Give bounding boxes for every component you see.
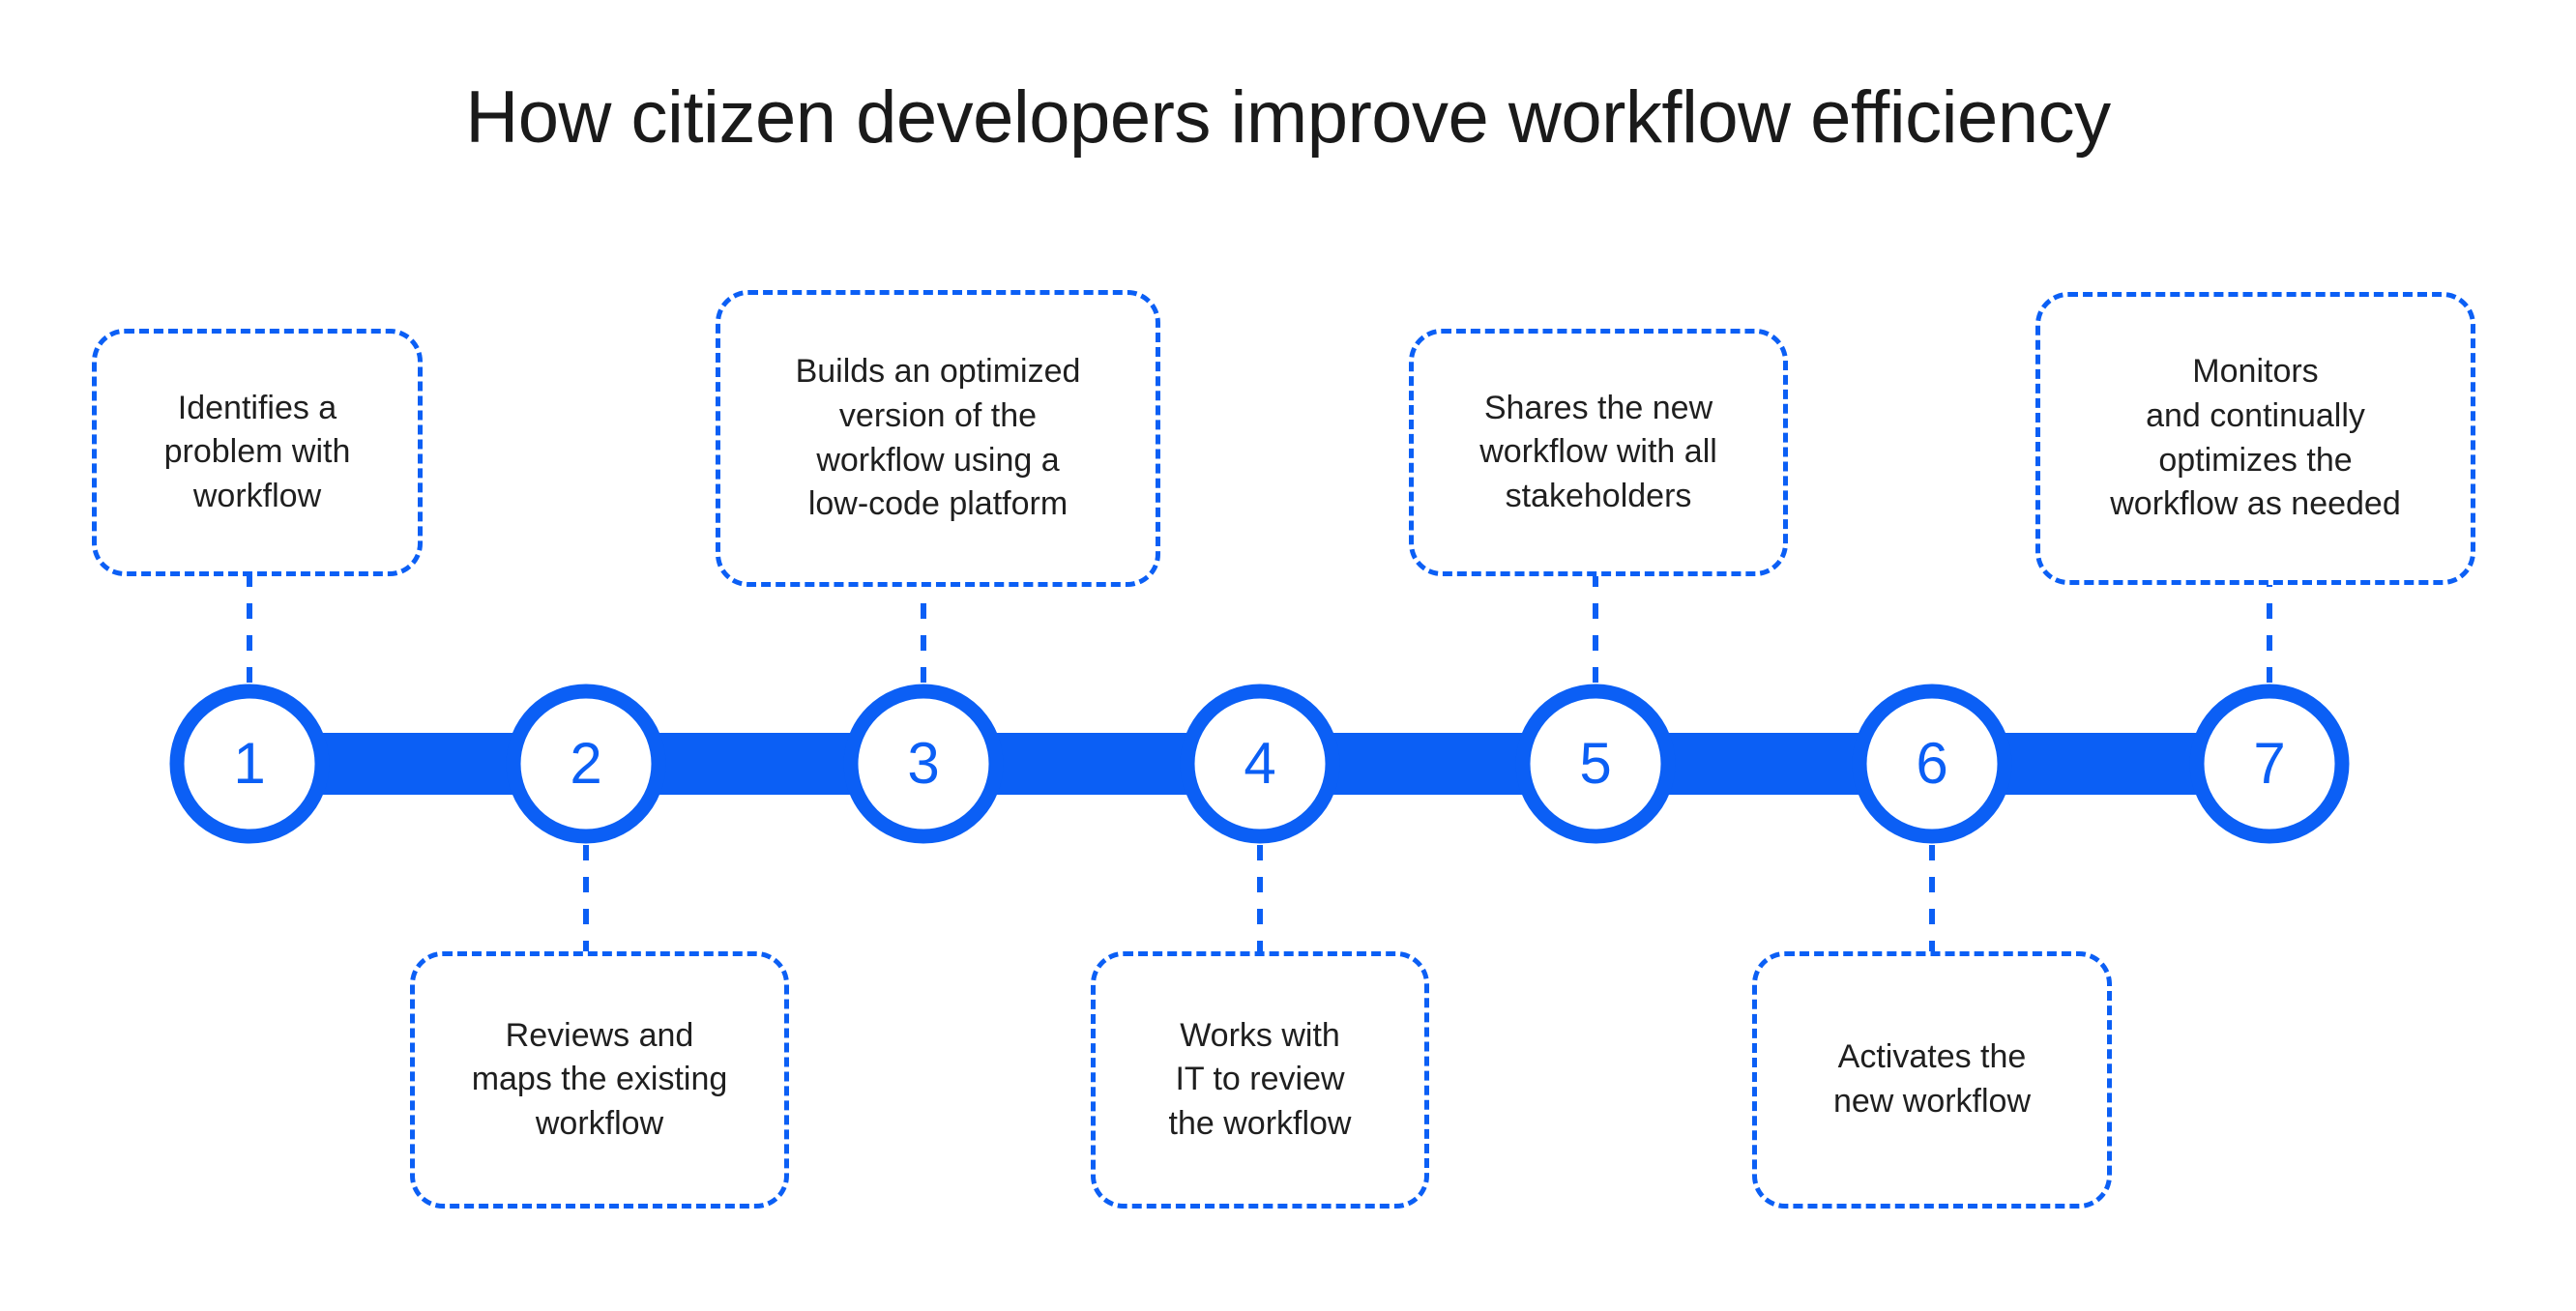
- diagram-canvas: How citizen developers improve workflow …: [0, 0, 2576, 1311]
- connector-bar-6-7: [2003, 733, 2202, 795]
- callout-step-6-text: Activates the new workflow: [1833, 1035, 2031, 1123]
- connector-bar-2-3: [657, 733, 856, 795]
- callout-step-1[interactable]: Identifies a problem with workflow: [92, 329, 423, 576]
- step-number-6: 6: [1853, 685, 2011, 843]
- callout-step-4[interactable]: Works with IT to review the workflow: [1091, 951, 1429, 1209]
- connector-bar-5-6: [1666, 733, 1865, 795]
- step-number-5: 5: [1516, 685, 1675, 843]
- connector-bar-1-2: [319, 733, 518, 795]
- callout-step-2[interactable]: Reviews and maps the existing workflow: [410, 951, 789, 1209]
- callout-step-5-text: Shares the new workflow with all stakeho…: [1479, 387, 1717, 519]
- connector-bar-4-5: [1330, 733, 1529, 795]
- step-number-2: 2: [507, 685, 665, 843]
- connector-bar-3-4: [993, 733, 1192, 795]
- callout-step-7-text: Monitors and continually optimizes the w…: [2110, 350, 2401, 526]
- callout-step-6[interactable]: Activates the new workflow: [1752, 951, 2112, 1209]
- callout-step-2-text: Reviews and maps the existing workflow: [472, 1014, 728, 1147]
- step-number-1: 1: [170, 685, 329, 843]
- step-number-4: 4: [1181, 685, 1339, 843]
- step-number-7: 7: [2190, 685, 2349, 843]
- callout-step-5[interactable]: Shares the new workflow with all stakeho…: [1409, 329, 1788, 576]
- callout-step-3-text: Builds an optimized version of the workf…: [796, 350, 1081, 526]
- callout-step-7[interactable]: Monitors and continually optimizes the w…: [2035, 292, 2475, 585]
- callout-step-1-text: Identifies a problem with workflow: [164, 387, 351, 519]
- step-number-3: 3: [844, 685, 1003, 843]
- callout-step-4-text: Works with IT to review the workflow: [1169, 1014, 1352, 1147]
- callout-step-3[interactable]: Builds an optimized version of the workf…: [716, 290, 1160, 587]
- page-title: How citizen developers improve workflow …: [0, 75, 2576, 160]
